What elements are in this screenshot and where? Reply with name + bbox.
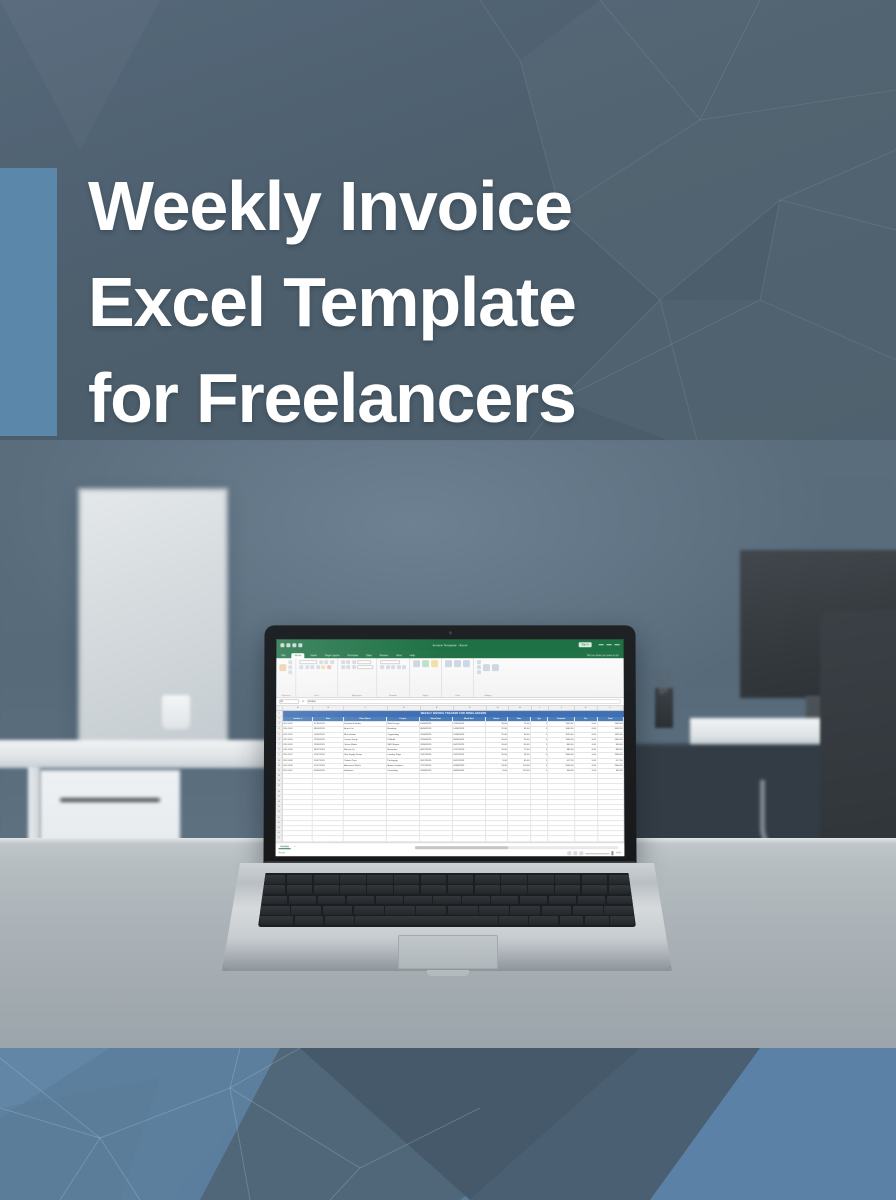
- number-format-box[interactable]: [380, 660, 400, 664]
- ribbon-group-number[interactable]: Number: [377, 658, 410, 697]
- select-all-corner[interactable]: [276, 706, 283, 710]
- keyboard-row[interactable]: [260, 906, 634, 915]
- grid-body[interactable]: 2Invoice #DateClient NameProjectWeek Sta…: [276, 717, 625, 842]
- laptop: Invoice Template - Excel Sign in File: [222, 625, 672, 975]
- merge-center-icon[interactable]: [357, 665, 373, 669]
- border-icon[interactable]: [316, 665, 320, 669]
- excel-status-area: Invoice + Ready: [276, 842, 625, 856]
- wrap-text-icon[interactable]: [357, 660, 371, 664]
- zoom-control[interactable]: 100%: [568, 851, 622, 855]
- col-header-g[interactable]: G: [487, 706, 509, 710]
- laptop-trackpad[interactable]: [398, 935, 498, 969]
- keyboard-key[interactable]: [529, 916, 558, 925]
- keyboard-key[interactable]: [448, 885, 473, 894]
- ribbon-group-editing[interactable]: Editing: [474, 658, 502, 697]
- name-box[interactable]: A1: [279, 699, 299, 704]
- keyboard-key[interactable]: [347, 896, 374, 905]
- keyboard-key[interactable]: [325, 916, 354, 925]
- keyboard-key[interactable]: [260, 916, 293, 925]
- keyboard-key[interactable]: [520, 896, 547, 905]
- decrease-decimal-icon[interactable]: [402, 665, 406, 669]
- keyboard-key[interactable]: [318, 896, 345, 905]
- zoom-level[interactable]: 100%: [616, 852, 622, 854]
- format-as-table-icon[interactable]: [422, 660, 429, 667]
- keyboard-key[interactable]: [260, 896, 287, 905]
- keyboard-key[interactable]: [323, 906, 353, 915]
- page-title: Weekly Invoice Excel Template for Freela…: [88, 158, 878, 446]
- group-label-cells: Cells: [455, 695, 460, 697]
- header-band: Weekly Invoice Excel Template for Freela…: [0, 0, 896, 452]
- ribbon-tab-bar[interactable]: File Home Insert Page Layout Formulas Da…: [276, 650, 623, 658]
- keyboard-key[interactable]: [367, 885, 392, 894]
- font-color-icon[interactable]: [327, 665, 331, 669]
- keyboard-key[interactable]: [394, 885, 419, 894]
- keyboard-key[interactable]: [555, 875, 580, 884]
- fx-icon[interactable]: fx: [302, 700, 304, 703]
- align-right-icon[interactable]: [352, 665, 356, 669]
- bottom-geometric-band: [0, 1048, 896, 1200]
- keyboard-key[interactable]: [582, 885, 607, 894]
- keyboard-key[interactable]: [314, 885, 339, 894]
- horizontal-scrollbar[interactable]: [415, 846, 618, 849]
- format-painter-icon[interactable]: [288, 670, 292, 674]
- keyboard-key[interactable]: [421, 885, 446, 894]
- keyboard-key[interactable]: [607, 896, 634, 905]
- ribbon[interactable]: Clipboard: [276, 658, 624, 698]
- keyboard-key[interactable]: [287, 885, 312, 894]
- col-header-f[interactable]: F: [454, 706, 487, 710]
- clear-icon[interactable]: [477, 670, 481, 674]
- keyboard-key[interactable]: [260, 885, 285, 894]
- keyboard-key[interactable]: [549, 896, 576, 905]
- keyboard-key[interactable]: [421, 875, 446, 884]
- keyboard-key[interactable]: [291, 906, 321, 915]
- excel-window: Invoice Template - Excel Sign in File: [276, 639, 625, 856]
- title-line-1: Weekly Invoice: [88, 158, 878, 254]
- keyboard-key[interactable]: [433, 896, 460, 905]
- keyboard-key[interactable]: [355, 916, 498, 925]
- paste-icon[interactable]: [279, 664, 286, 671]
- group-label-font: Font: [314, 695, 318, 697]
- keyboard-row[interactable]: [260, 885, 634, 894]
- office-photo: Invoice Template - Excel Sign in File: [0, 440, 896, 1060]
- page-break-icon[interactable]: [580, 851, 584, 855]
- keyboard-key[interactable]: [609, 885, 634, 894]
- align-middle-icon[interactable]: [346, 660, 350, 664]
- keyboard-key[interactable]: [560, 916, 584, 925]
- col-header-b[interactable]: B: [314, 706, 344, 710]
- whiteboard: [78, 488, 228, 748]
- keyboard-key[interactable]: [475, 875, 500, 884]
- autosum-icon[interactable]: [477, 660, 481, 664]
- fill-icon[interactable]: [477, 665, 481, 669]
- font-size-box[interactable]: [319, 660, 323, 664]
- keyboard-key[interactable]: [314, 875, 339, 884]
- format-icon[interactable]: [463, 660, 470, 667]
- fill-color-icon[interactable]: [321, 665, 325, 669]
- ribbon-group-styles[interactable]: Styles: [410, 658, 442, 697]
- keyboard-key[interactable]: [376, 896, 403, 905]
- decrease-font-icon[interactable]: [330, 660, 334, 664]
- keyboard-key[interactable]: [340, 885, 365, 894]
- keyboard-key[interactable]: [448, 875, 473, 884]
- status-ready: Ready: [279, 852, 285, 854]
- col-header-d[interactable]: D: [388, 706, 421, 710]
- conditional-formatting-icon[interactable]: [413, 660, 420, 667]
- keyboard-key[interactable]: [491, 896, 518, 905]
- keyboard-key[interactable]: [604, 906, 634, 915]
- keyboard-key[interactable]: [404, 896, 431, 905]
- comma-icon[interactable]: [391, 665, 395, 669]
- normal-view-icon[interactable]: [568, 851, 572, 855]
- keyboard-key[interactable]: [582, 875, 607, 884]
- align-top-icon[interactable]: [341, 660, 345, 664]
- keyboard-key[interactable]: [287, 875, 312, 884]
- underline-icon[interactable]: [310, 665, 314, 669]
- keyboard-key[interactable]: [475, 885, 500, 894]
- title-line-3: for Freelancers: [88, 350, 878, 446]
- status-bar: Ready 100%: [276, 850, 625, 856]
- excel-title-bar: Invoice Template - Excel Sign in: [276, 639, 623, 650]
- col-header-c[interactable]: C: [344, 706, 388, 710]
- formula-input[interactable]: Invoice: [307, 699, 621, 704]
- col-header-l[interactable]: L: [597, 706, 623, 710]
- keyboard-key[interactable]: [479, 906, 509, 915]
- accent-bar: [0, 168, 57, 436]
- keyboard-key[interactable]: [462, 896, 489, 905]
- col-header-h[interactable]: H: [509, 706, 531, 710]
- copy-icon[interactable]: [288, 665, 292, 669]
- col-header-j[interactable]: J: [549, 706, 575, 710]
- keyboard-key[interactable]: [585, 916, 609, 925]
- keyboard-key[interactable]: [542, 906, 572, 915]
- keyboard-key[interactable]: [528, 885, 553, 894]
- keyboard-row[interactable]: [260, 896, 634, 905]
- delete-icon[interactable]: [454, 660, 461, 667]
- col-header-i[interactable]: I: [532, 706, 549, 710]
- ribbon-group-cells[interactable]: Cells: [442, 658, 474, 697]
- keyboard-key[interactable]: [528, 875, 553, 884]
- keyboard-key[interactable]: [385, 906, 415, 915]
- webcam-icon: [449, 631, 452, 634]
- align-center-icon[interactable]: [346, 665, 350, 669]
- group-label-clipboard: Clipboard: [281, 695, 290, 697]
- title-line-2: Excel Template: [88, 254, 878, 350]
- keyboard-key[interactable]: [340, 875, 365, 884]
- laptop-lid: Invoice Template - Excel Sign in File: [263, 625, 636, 868]
- bold-icon[interactable]: [299, 665, 303, 669]
- keyboard-key[interactable]: [573, 906, 603, 915]
- keyboard-key[interactable]: [354, 906, 384, 915]
- align-bottom-icon[interactable]: [352, 660, 356, 664]
- col-header-k[interactable]: K: [575, 706, 597, 710]
- add-sheet-icon[interactable]: +: [294, 845, 295, 848]
- keyboard-key[interactable]: [367, 875, 392, 884]
- keyboard-key[interactable]: [555, 885, 580, 894]
- keyboard-key[interactable]: [394, 875, 419, 884]
- find-select-icon[interactable]: [492, 664, 499, 671]
- cut-icon[interactable]: [288, 660, 292, 664]
- keyboard-row[interactable]: [260, 875, 634, 884]
- group-label-editing: Editing: [485, 695, 492, 697]
- align-left-icon[interactable]: [341, 665, 345, 669]
- spreadsheet-grid[interactable]: A B C D E F G H I J K L: [276, 706, 625, 842]
- poster-canvas: Weekly Invoice Excel Template for Freela…: [0, 0, 896, 1200]
- keyboard-key[interactable]: [510, 906, 540, 915]
- currency-icon[interactable]: [380, 665, 384, 669]
- formula-bar[interactable]: A1 fx Invoice: [276, 698, 624, 706]
- keyboard-key[interactable]: [289, 896, 316, 905]
- keyboard-key[interactable]: [501, 885, 526, 894]
- insert-icon[interactable]: [445, 660, 452, 667]
- keyboard-key[interactable]: [610, 916, 634, 925]
- col-header-e[interactable]: E: [421, 706, 454, 710]
- keyboard-key[interactable]: [448, 906, 478, 915]
- ribbon-group-font[interactable]: Font: [296, 658, 338, 697]
- font-name-box[interactable]: [299, 660, 317, 664]
- cell-styles-icon[interactable]: [431, 660, 438, 667]
- keyboard-key[interactable]: [416, 906, 446, 915]
- keyboard-key[interactable]: [578, 896, 605, 905]
- percent-icon[interactable]: [386, 665, 390, 669]
- laptop-screen: Invoice Template - Excel Sign in File: [276, 639, 625, 856]
- laptop-latch-notch: [427, 970, 469, 976]
- desk-mug: [162, 695, 190, 729]
- keyboard-key[interactable]: [499, 916, 528, 925]
- ribbon-group-alignment[interactable]: Alignment: [338, 658, 378, 697]
- keyboard-key[interactable]: [260, 906, 290, 915]
- keyboard-key[interactable]: [501, 875, 526, 884]
- group-label-number: Number: [389, 695, 397, 697]
- laptop-keyboard[interactable]: [258, 873, 636, 927]
- italic-icon[interactable]: [305, 665, 309, 669]
- keyboard-row[interactable]: [260, 916, 634, 925]
- group-label-styles: Styles: [423, 695, 429, 697]
- keyboard-key[interactable]: [295, 916, 324, 925]
- col-header-a[interactable]: A: [283, 706, 313, 710]
- sort-filter-icon[interactable]: [483, 664, 490, 671]
- increase-font-icon[interactable]: [324, 660, 328, 664]
- ribbon-group-clipboard[interactable]: Clipboard: [276, 658, 296, 697]
- sheet-tab-invoice[interactable]: Invoice: [279, 845, 291, 849]
- tell-me-box[interactable]: Tell me what you want to do: [585, 654, 621, 658]
- increase-decimal-icon[interactable]: [397, 665, 401, 669]
- document-title: Invoice Template - Excel: [276, 643, 623, 647]
- group-label-alignment: Alignment: [352, 695, 362, 697]
- page-layout-icon[interactable]: [574, 851, 578, 855]
